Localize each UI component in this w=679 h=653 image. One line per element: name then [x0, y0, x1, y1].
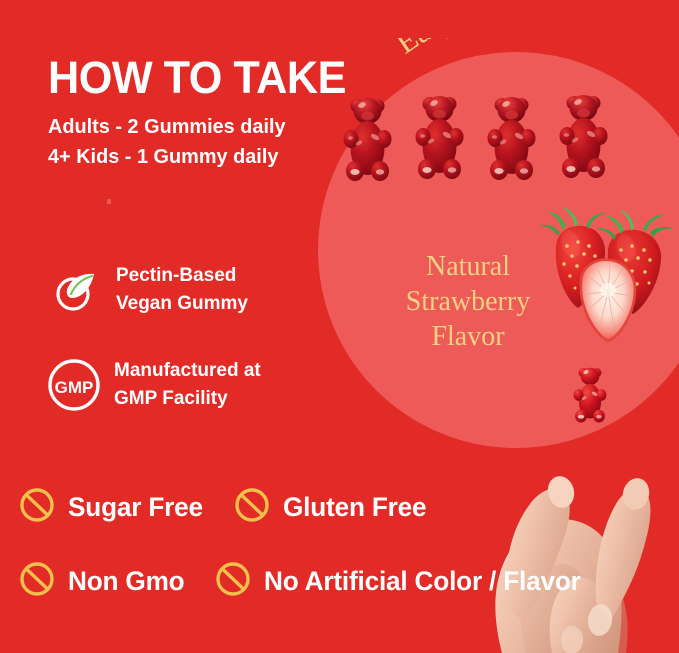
- feature-pectin-vegan: Pectin-Based Vegan Gummy: [46, 262, 248, 318]
- easy-to-chew-headline: Easy to Chew: [352, 38, 642, 130]
- strawberry-half: [581, 260, 635, 341]
- dosage-instructions: Adults - 2 Gummies daily 4+ Kids - 1 Gum…: [48, 112, 293, 172]
- easy-to-chew-text: Easy to Chew: [389, 38, 578, 60]
- feature-pectin-line-1: Pectin-Based: [116, 262, 248, 290]
- feature-gmp-line-2: GMP Facility: [114, 385, 261, 413]
- dosage-line-kids: 4+ Kids - 1 Gummy daily: [48, 142, 286, 172]
- prohibition-icon: [214, 560, 252, 603]
- decorative-speck: [107, 199, 111, 204]
- claim-no-artificial: No Artificial Color / Flavor: [214, 560, 590, 603]
- hand-holding-gummy-image: [468, 358, 679, 653]
- pectin-leaf-icon: [46, 264, 106, 316]
- prohibition-icon: [18, 560, 56, 603]
- page-title: HOW TO TAKE: [48, 52, 346, 104]
- claims-row-2: Non Gmo No Artificial Color / Flavor: [18, 560, 609, 603]
- feature-pectin-text: Pectin-Based Vegan Gummy: [116, 262, 248, 318]
- flavor-line-3: Flavor: [377, 319, 559, 354]
- flavor-line-1: Natural: [377, 249, 559, 284]
- claim-sugar-free-label: Sugar Free: [68, 492, 203, 523]
- pinched-gummy-bear: [574, 368, 607, 423]
- gmp-icon-label: GMP: [55, 378, 94, 397]
- claim-gluten-free-label: Gluten Free: [283, 492, 426, 523]
- product-infographic: Easy to Chew: [0, 0, 679, 653]
- feature-gmp-line-1: Manufactured at: [114, 357, 261, 385]
- feature-pectin-line-2: Vegan Gummy: [116, 290, 248, 318]
- prohibition-icon: [18, 486, 56, 529]
- flavor-line-2: Strawberry: [377, 284, 559, 319]
- gmp-badge-icon: GMP: [44, 356, 104, 414]
- flavor-headline: Natural Strawberry Flavor: [377, 249, 559, 354]
- claim-gluten-free: Gluten Free: [233, 486, 431, 529]
- feature-gmp-facility: GMP Manufactured at GMP Facility: [44, 356, 261, 414]
- prohibition-icon: [233, 486, 271, 529]
- claim-no-artificial-label: No Artificial Color / Flavor: [264, 566, 581, 597]
- claims-row-1: Sugar Free Gluten Free: [18, 486, 449, 529]
- claim-non-gmo: Non Gmo: [18, 560, 188, 603]
- dosage-line-adults: Adults - 2 Gummies daily: [48, 112, 286, 142]
- claim-non-gmo-label: Non Gmo: [68, 566, 184, 597]
- feature-gmp-text: Manufactured at GMP Facility: [114, 357, 261, 413]
- claim-sugar-free: Sugar Free: [18, 486, 207, 529]
